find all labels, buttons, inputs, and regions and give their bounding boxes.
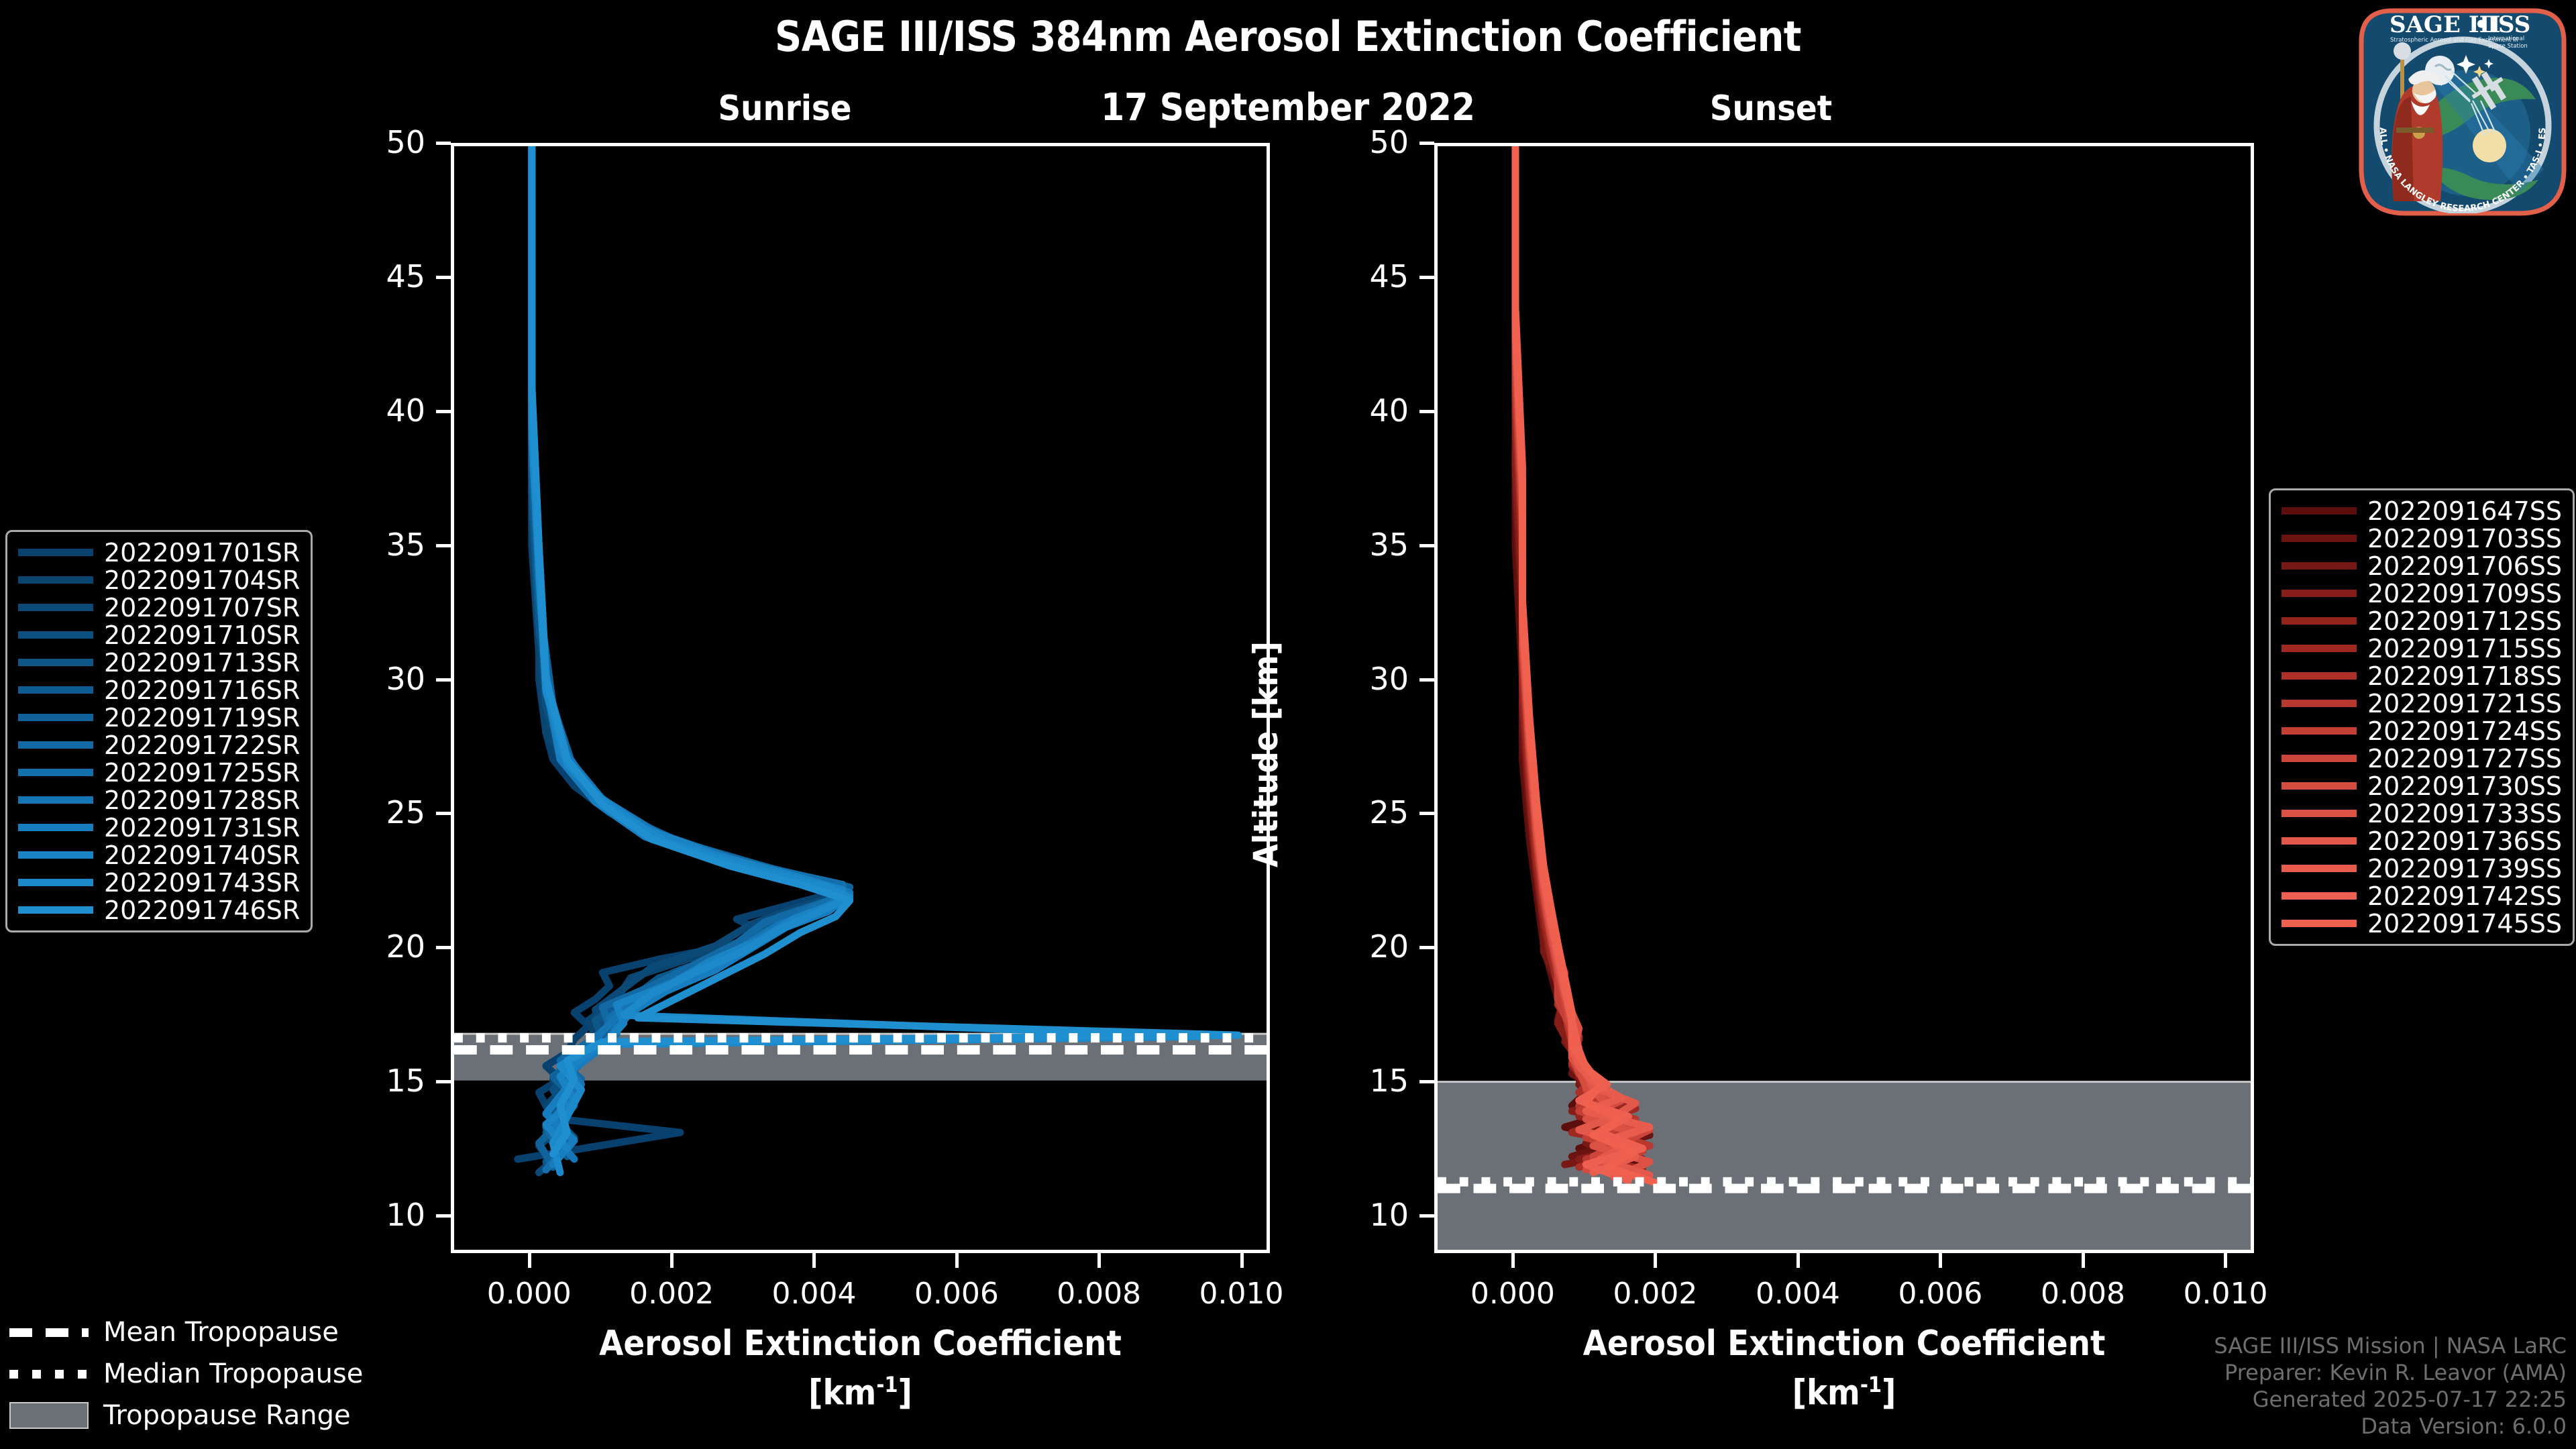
profile-line (1515, 146, 1650, 1162)
y-axis-tick-label-sunrise: 20 (305, 928, 425, 965)
legend-color-swatch (2282, 617, 2357, 625)
legend-item-label: 2022091703SS (2367, 524, 2562, 553)
legend-item: 2022091716SR (18, 676, 300, 704)
y-axis-tick-label-sunset: 35 (1288, 527, 1409, 563)
tropopause-mean-label: Mean Tropopause (103, 1317, 339, 1348)
panel-label-sunrise: Sunrise (671, 89, 899, 129)
legend-item-label: 2022091716SR (104, 676, 300, 705)
legend-color-swatch (2282, 507, 2357, 515)
legend-item-label: 2022091725SR (104, 758, 300, 788)
y-axis-tick-sunrise (436, 678, 451, 682)
profile-line (1515, 146, 1643, 1170)
sunrise-profile-svg (454, 146, 1267, 1250)
profile-line (1515, 146, 1643, 1170)
x-axis-tick-label-sunrise: 0.008 (1012, 1277, 1186, 1311)
sunset-profile-svg (1438, 146, 2251, 1250)
legend-color-swatch (18, 741, 93, 749)
profile-line (1515, 146, 1643, 1167)
legend-color-swatch (2282, 892, 2357, 900)
legend-item-label: 2022091706SS (2367, 551, 2562, 581)
legend-item-label: 2022091701SR (104, 538, 300, 568)
legend-item-label: 2022091740SR (104, 841, 300, 870)
logo-title-iss: ISS (2487, 11, 2530, 38)
legend-item-label: 2022091722SR (104, 731, 300, 760)
legend-color-swatch (18, 549, 93, 556)
logo-subtitle-right-1: International (2488, 36, 2524, 42)
legend-color-swatch (2282, 782, 2357, 790)
y-axis-tick-sunset (1419, 946, 1434, 949)
legend-color-swatch (2282, 535, 2357, 542)
x-axis-tick-label-sunrise: 0.004 (727, 1277, 901, 1311)
legend-color-swatch (2282, 810, 2357, 817)
legend-color-swatch (2282, 727, 2357, 735)
legend-item-label: 2022091718SS (2367, 661, 2562, 691)
page-title: SAGE III/ISS 384nm Aerosol Extinction Co… (0, 12, 2576, 61)
legend-item: 2022091647SS (2282, 497, 2562, 525)
y-axis-tick-label-sunset: 25 (1288, 794, 1409, 830)
y-axis-tick-label-sunrise: 40 (305, 392, 425, 429)
legend-item-label: 2022091731SR (104, 813, 300, 843)
profile-line (532, 146, 1203, 1173)
x-axis-tick-sunset (1511, 1253, 1515, 1268)
profile-line (532, 146, 850, 1151)
date-subtitle: 17 September 2022 (0, 86, 2576, 129)
legend-item: 2022091719SR (18, 704, 300, 731)
legend-item: 2022091715SS (2282, 635, 2562, 662)
y-axis-tick-sunrise (436, 812, 451, 815)
x-axis-tick-sunrise (528, 1253, 531, 1268)
legend-item: 2022091701SR (18, 539, 300, 566)
profile-line (1515, 146, 1650, 1173)
x-axis-tick-label-sunset: 0.008 (1996, 1277, 2170, 1311)
x-axis-tick-label-sunset: 0.000 (1426, 1277, 1600, 1311)
x-axis-tick-label-sunrise: 0.002 (584, 1277, 759, 1311)
legend-item: 2022091707SR (18, 594, 300, 621)
legend-item-label: 2022091742SS (2367, 881, 2562, 911)
x-axis-tick-sunrise (812, 1253, 816, 1268)
legend-item: 2022091746SR (18, 896, 300, 924)
panel-label-sunset: Sunset (1657, 89, 1885, 129)
legend-item: 2022091709SS (2282, 580, 2562, 607)
legend-item-label: 2022091713SR (104, 648, 300, 678)
y-axis-tick-sunset (1419, 142, 1434, 145)
profile-line (518, 146, 836, 1159)
x-axis-tick-sunrise (1097, 1253, 1101, 1268)
sunrise-plot-area (451, 143, 1270, 1253)
legend-color-swatch (18, 604, 93, 611)
legend-item-label: 2022091733SS (2367, 799, 2562, 828)
legend-item: 2022091733SS (2282, 800, 2562, 827)
legend-color-swatch (2282, 920, 2357, 927)
x-axis-tick-label-sunrise: 0.006 (869, 1277, 1044, 1311)
legend-color-swatch (18, 714, 93, 721)
tropopause-range-band (1438, 1082, 2251, 1250)
legend-item: 2022091743SR (18, 869, 300, 896)
tropopause-range-row: Tropopause Range (9, 1395, 358, 1436)
legend-item-label: 2022091736SS (2367, 826, 2562, 856)
y-axis-tick-sunset (1419, 410, 1434, 413)
legend-item-label: 2022091739SS (2367, 854, 2562, 883)
tropopause-median-label: Median Tropopause (103, 1358, 363, 1389)
credits-preparer: Preparer: Kevin R. Leavor (AMA) (2214, 1359, 2567, 1386)
legend-item: 2022091712SS (2282, 607, 2562, 635)
y-axis-tick-sunset (1419, 1080, 1434, 1083)
legend-item: 2022091703SS (2282, 525, 2562, 552)
profile-line (532, 146, 843, 1157)
gray-band-icon (9, 1405, 89, 1426)
x-axis-tick-sunset (1939, 1253, 1942, 1268)
x-axis-unit-sunset: [km-1] (1509, 1372, 2180, 1413)
profile-line (532, 146, 843, 1148)
legend-color-swatch (18, 769, 93, 776)
credits-mission: SAGE III/ISS Mission | NASA LaRC (2214, 1332, 2567, 1359)
profile-line (1515, 146, 1650, 1173)
legend-item: 2022091742SS (2282, 882, 2562, 910)
x-axis-tick-sunrise (670, 1253, 674, 1268)
profile-line (1515, 146, 1650, 1170)
y-axis-tick-label-sunset: 15 (1288, 1063, 1409, 1099)
y-axis-tick-label-sunrise: 30 (305, 661, 425, 697)
x-axis-tick-label-sunrise: 0.000 (442, 1277, 616, 1311)
y-axis-tick-sunset (1419, 812, 1434, 815)
legend-color-swatch (18, 824, 93, 831)
dotted-line-icon (9, 1364, 89, 1384)
legend-item: 2022091725SR (18, 759, 300, 786)
legend-sunset: 2022091647SS2022091703SS2022091706SS2022… (2269, 488, 2575, 946)
y-axis-tick-label-sunset: 20 (1288, 928, 1409, 965)
legend-color-swatch (18, 686, 93, 694)
legend-item-label: 2022091727SS (2367, 744, 2562, 773)
y-axis-tick-label-sunrise: 45 (305, 258, 425, 294)
credits-generated: Generated 2025-07-17 22:25 (2214, 1386, 2567, 1413)
y-axis-tick-sunrise (436, 544, 451, 547)
legend-item-label: 2022091724SS (2367, 716, 2562, 746)
legend-color-swatch (2282, 672, 2357, 680)
legend-item-label: 2022091728SR (104, 786, 300, 815)
profile-line (1515, 146, 1643, 1165)
x-axis-tick-label-sunset: 0.010 (2138, 1277, 2312, 1311)
logo-subtitle-right-2: Space Station (2488, 43, 2528, 50)
legend-color-swatch (18, 851, 93, 859)
x-axis-title-sunset: Aerosol Extinction Coefficient (1509, 1324, 2180, 1364)
profile-line (1515, 146, 1650, 1175)
legend-item: 2022091730SS (2282, 772, 2562, 800)
y-axis-tick-sunset (1419, 1214, 1434, 1218)
y-axis-tick-label-sunrise: 15 (305, 1063, 425, 1099)
y-axis-tick-label-sunset: 40 (1288, 392, 1409, 429)
legend-item: 2022091710SR (18, 621, 300, 649)
legend-item: 2022091727SS (2282, 745, 2562, 772)
legend-item: 2022091740SR (18, 841, 300, 869)
y-axis-tick-label-sunset: 50 (1288, 124, 1409, 160)
y-axis-tick-label-sunrise: 10 (305, 1197, 425, 1233)
legend-item: 2022091718SS (2282, 662, 2562, 690)
legend-color-swatch (2282, 645, 2357, 652)
legend-color-swatch (18, 576, 93, 584)
legend-color-swatch (18, 879, 93, 886)
legend-color-swatch (18, 906, 93, 914)
legend-item: 2022091728SR (18, 786, 300, 814)
y-axis-tick-sunset (1419, 276, 1434, 279)
legend-item-label: 2022091721SS (2367, 689, 2562, 718)
x-axis-tick-sunset (1796, 1253, 1800, 1268)
legend-item-label: 2022091743SR (104, 868, 300, 898)
y-axis-tick-sunrise (436, 1080, 451, 1083)
legend-item: 2022091724SS (2282, 717, 2562, 745)
legend-item-label: 2022091647SS (2367, 496, 2562, 526)
legend-item: 2022091731SR (18, 814, 300, 841)
profile-line (1515, 146, 1643, 1167)
x-axis-tick-sunset (2082, 1253, 2085, 1268)
sage-iii-iss-logo: SAGE III • ISS Stratospheric Aerosol and… (2352, 1, 2573, 223)
legend-item-label: 2022091746SR (104, 896, 300, 925)
legend-item: 2022091736SS (2282, 827, 2562, 855)
legend-color-swatch (18, 631, 93, 639)
legend-item-label: 2022091719SR (104, 703, 300, 733)
legend-item: 2022091722SR (18, 731, 300, 759)
x-axis-tick-label-sunset: 0.006 (1853, 1277, 2027, 1311)
y-axis-tick-label-sunset: 45 (1288, 258, 1409, 294)
x-axis-tick-label-sunset: 0.004 (1711, 1277, 1885, 1311)
legend-item-label: 2022091709SS (2367, 579, 2562, 608)
y-axis-tick-sunrise (436, 142, 451, 145)
legend-item-label: 2022091707SR (104, 593, 300, 623)
y-axis-tick-sunrise (436, 946, 451, 949)
x-axis-title-sunrise: Aerosol Extinction Coefficient (525, 1324, 1196, 1364)
sunset-plot-area (1434, 143, 2254, 1253)
legend-color-swatch (2282, 755, 2357, 762)
dashed-line-icon (9, 1322, 89, 1342)
x-axis-tick-label-sunset: 0.002 (1568, 1277, 1742, 1311)
legend-item-label: 2022091710SR (104, 621, 300, 650)
x-axis-tick-sunrise (955, 1253, 959, 1268)
y-axis-tick-sunrise (436, 276, 451, 279)
y-axis-tick-sunrise (436, 410, 451, 413)
profile-line (1515, 146, 1657, 1183)
legend-sunrise: 2022091701SR2022091704SR2022091707SR2022… (5, 530, 313, 932)
x-axis-unit-sunrise: [km-1] (525, 1372, 1196, 1413)
y-axis-tick-sunset (1419, 678, 1434, 682)
credits-version: Data Version: 6.0.0 (2214, 1413, 2567, 1440)
legend-color-swatch (2282, 590, 2357, 597)
logo-title-dot: • (2474, 11, 2489, 38)
legend-item: 2022091745SS (2282, 910, 2562, 937)
legend-item-label: 2022091730SS (2367, 771, 2562, 801)
tropopause-median-row: Median Tropopause (9, 1353, 358, 1395)
legend-color-swatch (18, 659, 93, 666)
legend-color-swatch (2282, 865, 2357, 872)
legend-item: 2022091706SS (2282, 552, 2562, 580)
y-axis-tick-label-sunrise: 35 (305, 527, 425, 563)
y-axis-tick-label-sunrise: 25 (305, 794, 425, 830)
profile-line (1515, 146, 1650, 1175)
x-axis-tick-sunset (1654, 1253, 1657, 1268)
x-axis-tick-sunrise (1240, 1253, 1244, 1268)
x-axis-tick-sunset (2224, 1253, 2227, 1268)
legend-color-swatch (2282, 700, 2357, 707)
tropopause-legend: Mean Tropopause Median Tropopause Tropop… (9, 1311, 358, 1436)
credits-block: SAGE III/ISS Mission | NASA LaRC Prepare… (2214, 1332, 2567, 1440)
legend-item-label: 2022091715SS (2367, 634, 2562, 663)
legend-item-label: 2022091704SR (104, 566, 300, 595)
legend-item-label: 2022091745SS (2367, 909, 2562, 938)
legend-item: 2022091739SS (2282, 855, 2562, 882)
tropopause-mean-row: Mean Tropopause (9, 1311, 358, 1353)
y-axis-tick-sunset (1419, 544, 1434, 547)
profile-line (1515, 146, 1650, 1178)
profile-line (1515, 146, 1643, 1173)
legend-color-swatch (18, 796, 93, 804)
legend-color-swatch (2282, 837, 2357, 845)
y-axis-tick-label-sunset: 10 (1288, 1197, 1409, 1233)
x-axis-tick-label-sunrise: 0.010 (1155, 1277, 1329, 1311)
legend-item: 2022091704SR (18, 566, 300, 594)
legend-item: 2022091721SS (2282, 690, 2562, 717)
y-axis-tick-label-sunrise: 50 (305, 124, 425, 160)
profile-line (532, 146, 843, 1154)
y-axis-tick-label-sunset: 30 (1288, 661, 1409, 697)
tropopause-range-label: Tropopause Range (103, 1400, 351, 1431)
legend-item-label: 2022091712SS (2367, 606, 2562, 636)
legend-color-swatch (2282, 562, 2357, 570)
legend-item: 2022091713SR (18, 649, 300, 676)
y-axis-tick-sunrise (436, 1214, 451, 1218)
